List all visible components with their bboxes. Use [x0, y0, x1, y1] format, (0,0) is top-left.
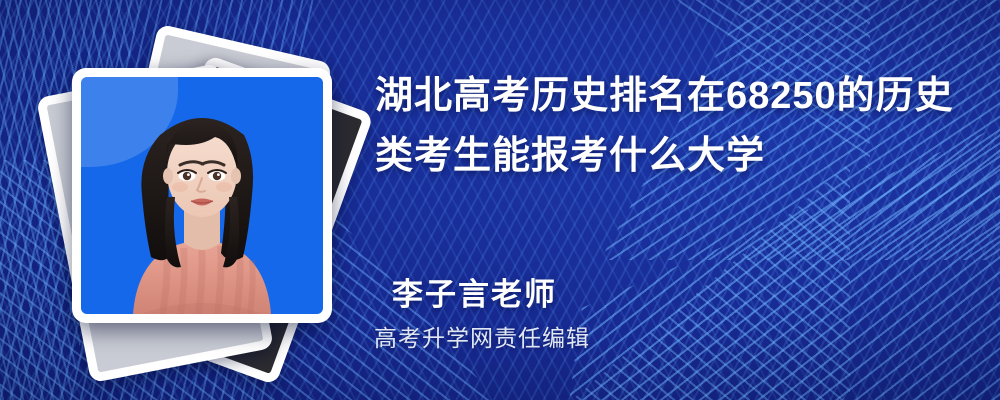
article-cover-banner: 湖北高考历史排名在68250的历史类考生能报考什么大学 李子言老师 高考升学网责…: [0, 0, 1000, 400]
portrait-photo-frame: [72, 68, 332, 323]
author-role-label: 高考升学网责任编辑: [374, 319, 590, 353]
author-name: 李子言老师: [392, 269, 557, 314]
portrait-photo: [81, 77, 323, 314]
photo-stack: [36, 34, 366, 364]
page-title: 湖北高考历史排名在68250的历史类考生能报考什么大学: [375, 66, 975, 186]
portrait-illustration: [81, 77, 323, 314]
